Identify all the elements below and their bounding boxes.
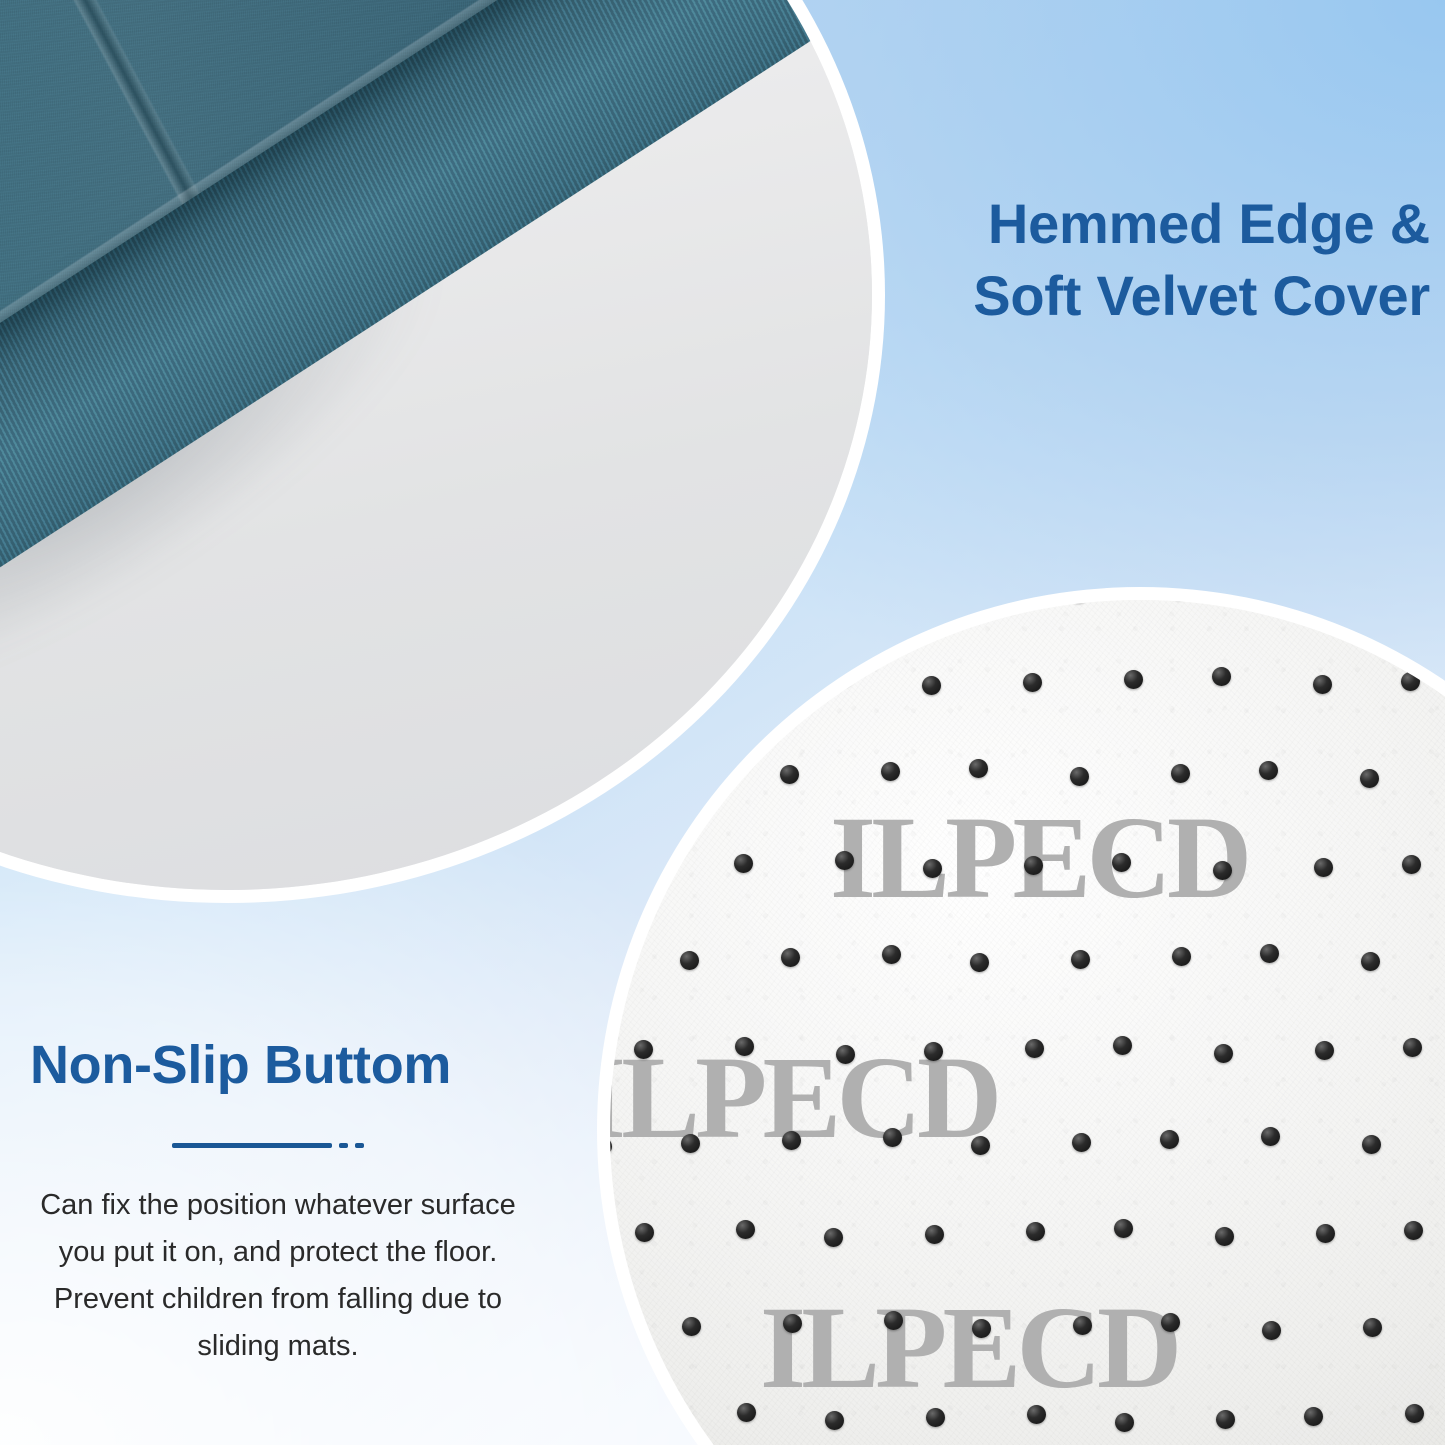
- silicone-dot: [883, 1128, 902, 1147]
- silicone-dot: [882, 945, 901, 964]
- silicone-dot: [1215, 1227, 1234, 1246]
- silicone-dot: [924, 1042, 943, 1061]
- silicone-dot: [1405, 1404, 1424, 1423]
- silicone-dot: [825, 1411, 844, 1430]
- feature-description-line: Prevent children from falling due to: [18, 1276, 538, 1323]
- silicone-dot: [834, 668, 853, 687]
- silicone-dot: [680, 951, 699, 970]
- silicone-dot: [1073, 1316, 1092, 1335]
- silicone-dot: [884, 1311, 903, 1330]
- headline-line-1: Hemmed Edge &: [905, 188, 1430, 260]
- silicone-dot: [1213, 861, 1232, 880]
- title-divider: [172, 1143, 364, 1148]
- silicone-dot: [636, 1406, 655, 1425]
- divider-dash-2: [355, 1143, 364, 1148]
- feature-description-line: you put it on, and protect the floor.: [18, 1229, 538, 1276]
- silicone-dot: [633, 846, 652, 865]
- silicone-dot: [733, 671, 752, 690]
- silicone-dot: [922, 676, 941, 695]
- product-feature-image: ILPECD ILPECD ILPECD Hemmed Edge & Soft …: [0, 0, 1445, 1445]
- feature-description-line: sliding mats.: [18, 1323, 538, 1370]
- silicone-dot: [779, 600, 798, 601]
- silicone-dot: [1025, 1039, 1044, 1058]
- silicone-dot: [1261, 1127, 1280, 1146]
- silicone-dot: [1172, 947, 1191, 966]
- silicone-dot: [1362, 1135, 1381, 1154]
- silicone-dot: [1112, 853, 1131, 872]
- silicone-dot: [1260, 944, 1279, 963]
- silicone-dot: [1401, 672, 1420, 691]
- silicone-dot: [1402, 855, 1421, 874]
- silicone-dot: [782, 1131, 801, 1150]
- silicone-dot: [734, 854, 753, 873]
- silicone-dot: [1404, 1221, 1423, 1240]
- divider-bar: [172, 1143, 332, 1148]
- silicone-dot: [1072, 1133, 1091, 1152]
- silicone-dot: [635, 1223, 654, 1242]
- silicone-dot: [735, 1037, 754, 1056]
- silicone-dot: [783, 1314, 802, 1333]
- feature-description-line: Can fix the position whatever surface: [18, 1182, 538, 1229]
- divider-dash-1: [339, 1143, 348, 1148]
- silicone-dot: [881, 762, 900, 781]
- silicone-dot: [1214, 1044, 1233, 1063]
- silicone-dot: [1161, 1313, 1180, 1332]
- silicone-dot: [691, 600, 710, 604]
- silicone-dot: [1115, 1413, 1134, 1432]
- silicone-dot: [682, 1317, 701, 1336]
- silicone-dot: [1069, 600, 1088, 603]
- silicone-dot: [925, 1225, 944, 1244]
- silicone-dot: [1262, 1321, 1281, 1340]
- silicone-dot: [970, 953, 989, 972]
- headline-line-2: Soft Velvet Cover: [905, 260, 1430, 332]
- silicone-dot: [1403, 1038, 1422, 1057]
- silicone-dot: [1124, 670, 1143, 689]
- silicone-dot: [610, 1137, 612, 1156]
- silicone-dot: [971, 1136, 990, 1155]
- silicone-dot: [1212, 667, 1231, 686]
- silicone-dot: [923, 859, 942, 878]
- silicone-dot: [1071, 950, 1090, 969]
- silicone-dot: [836, 1045, 855, 1064]
- silicone-dot: [824, 1228, 843, 1247]
- silicone-dot: [737, 1403, 756, 1422]
- silicone-dot: [610, 943, 611, 962]
- silicone-dot: [1113, 1036, 1132, 1055]
- feature-description: Can fix the position whatever surface yo…: [18, 1182, 538, 1370]
- silicone-dot: [926, 1408, 945, 1427]
- silicone-dot: [1027, 1405, 1046, 1424]
- silicone-dot: [1171, 764, 1190, 783]
- silicone-dot: [681, 1134, 700, 1153]
- feature-title: Non-Slip Buttom: [30, 1036, 451, 1095]
- silicone-dot: [969, 759, 988, 778]
- silicone-dot: [972, 1319, 991, 1338]
- silicone-dot: [634, 1040, 653, 1059]
- silicone-dot: [1363, 1318, 1382, 1337]
- silicone-dot: [1023, 673, 1042, 692]
- silicone-dot: [1259, 761, 1278, 780]
- silicone-dot: [1070, 767, 1089, 786]
- silicone-dot: [610, 1320, 613, 1339]
- silicone-dot: [1026, 1222, 1045, 1241]
- silicone-dot: [780, 765, 799, 784]
- silicone-dot: [1114, 1219, 1133, 1238]
- silicone-dot-grid: [610, 600, 1445, 1445]
- silicone-dot: [632, 663, 651, 682]
- headline: Hemmed Edge & Soft Velvet Cover: [905, 188, 1430, 331]
- silicone-dot: [781, 948, 800, 967]
- silicone-dot: [1024, 856, 1043, 875]
- non-slip-mat-photo: ILPECD ILPECD ILPECD: [610, 600, 1445, 1445]
- silicone-dot: [1304, 1407, 1323, 1426]
- silicone-dot: [1316, 1224, 1335, 1243]
- silicone-dot: [1160, 1130, 1179, 1149]
- silicone-dot: [1360, 769, 1379, 788]
- silicone-dot: [1314, 858, 1333, 877]
- silicone-dot: [692, 768, 711, 787]
- silicone-dot: [1361, 952, 1380, 971]
- silicone-dot: [1315, 1041, 1334, 1060]
- silicone-dot: [835, 851, 854, 870]
- silicone-dot: [1216, 1410, 1235, 1429]
- silicone-dot: [736, 1220, 755, 1239]
- silicone-dot: [1313, 675, 1332, 694]
